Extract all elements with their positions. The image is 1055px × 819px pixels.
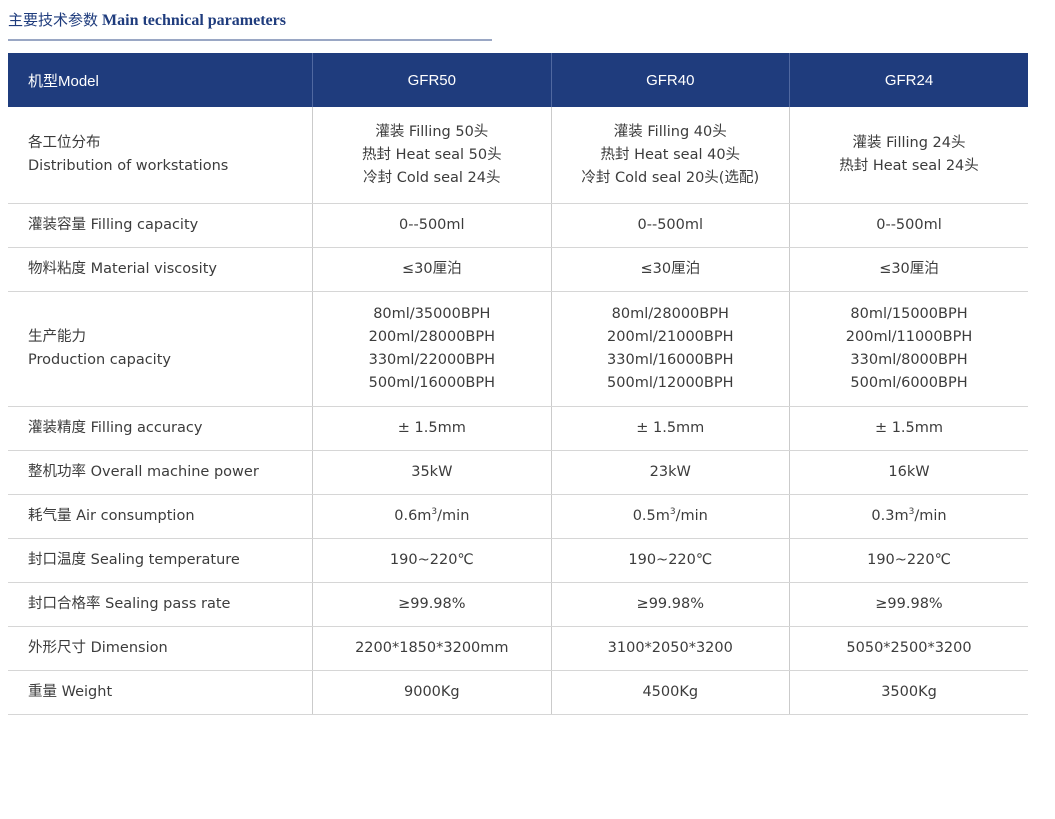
cell-dimension-gfr40: 3100*2050*3200 [551,627,789,671]
row-label-workstations: 各工位分布Distribution of workstations [8,107,313,204]
spec-table: 机型Model GFR50 GFR40 GFR24 各工位分布Distribut… [8,53,1028,715]
cell-weight-gfr50: 9000Kg [313,671,551,715]
cell-weight-gfr24: 3500Kg [790,671,1029,715]
spec-table-container: 机型Model GFR50 GFR40 GFR24 各工位分布Distribut… [8,53,1028,715]
cell-filling-accuracy-gfr40: ± 1.5mm [551,407,789,451]
cell-sealing-pass-rate-gfr24: ≥99.98% [790,583,1029,627]
cell-machine-power-gfr24: 16kW [790,451,1029,495]
row-label-dimension: 外形尺寸 Dimension [8,627,313,671]
cell-dimension-gfr50: 2200*1850*3200mm [313,627,551,671]
header-row: 机型Model GFR50 GFR40 GFR24 [8,53,1028,107]
cell-air-consumption-gfr40: 0.5m3/min [551,495,789,539]
cell-sealing-pass-rate-gfr40: ≥99.98% [551,583,789,627]
row-label-air-consumption: 耗气量 Air consumption [8,495,313,539]
cell-machine-power-gfr50: 35kW [313,451,551,495]
table-row: 封口温度 Sealing temperature190~220℃190~220℃… [8,539,1028,583]
column-header-gfr50: GFR50 [313,53,551,107]
row-label-material-viscosity: 物料粘度 Material viscosity [8,248,313,292]
table-row: 外形尺寸 Dimension2200*1850*3200mm3100*2050*… [8,627,1028,671]
row-label-weight: 重量 Weight [8,671,313,715]
cell-production-gfr40: 80ml/28000BPH200ml/21000BPH330ml/16000BP… [551,292,789,407]
table-row: 重量 Weight9000Kg4500Kg3500Kg [8,671,1028,715]
cell-production-gfr50: 80ml/35000BPH200ml/28000BPH330ml/22000BP… [313,292,551,407]
cell-filling-accuracy-gfr50: ± 1.5mm [313,407,551,451]
cell-material-viscosity-gfr24: ≤30厘泊 [790,248,1029,292]
table-row: 各工位分布Distribution of workstations灌装 Fill… [8,107,1028,204]
cell-filling-capacity-gfr24: 0--500ml [790,204,1029,248]
page-title: 主要技术参数Main technical parameters [8,10,1055,31]
table-row: 灌装容量 Filling capacity0--500ml0--500ml0--… [8,204,1028,248]
cell-weight-gfr40: 4500Kg [551,671,789,715]
cell-material-viscosity-gfr50: ≤30厘泊 [313,248,551,292]
cell-sealing-temperature-gfr24: 190~220℃ [790,539,1029,583]
cell-sealing-pass-rate-gfr50: ≥99.98% [313,583,551,627]
row-label-filling-capacity: 灌装容量 Filling capacity [8,204,313,248]
cell-filling-capacity-gfr50: 0--500ml [313,204,551,248]
cell-workstations-gfr40: 灌装 Filling 40头热封 Heat seal 40头冷封 Cold se… [551,107,789,204]
row-label-filling-accuracy: 灌装精度 Filling accuracy [8,407,313,451]
page-header: 主要技术参数Main technical parameters [0,0,1055,31]
cell-machine-power-gfr40: 23kW [551,451,789,495]
cell-air-consumption-gfr24: 0.3m3/min [790,495,1029,539]
spec-table-body: 各工位分布Distribution of workstations灌装 Fill… [8,107,1028,715]
column-header-gfr24: GFR24 [790,53,1029,107]
cell-sealing-temperature-gfr50: 190~220℃ [313,539,551,583]
cell-material-viscosity-gfr40: ≤30厘泊 [551,248,789,292]
column-header-model: 机型Model [8,53,313,107]
title-divider [8,39,492,41]
cell-dimension-gfr24: 5050*2500*3200 [790,627,1029,671]
table-row: 封口合格率 Sealing pass rate≥99.98%≥99.98%≥99… [8,583,1028,627]
table-row: 耗气量 Air consumption0.6m3/min0.5m3/min0.3… [8,495,1028,539]
cell-workstations-gfr50: 灌装 Filling 50头热封 Heat seal 50头冷封 Cold se… [313,107,551,204]
column-header-gfr40: GFR40 [551,53,789,107]
row-label-production: 生产能力Production capacity [8,292,313,407]
table-row: 整机功率 Overall machine power35kW23kW16kW [8,451,1028,495]
page-title-en: Main technical parameters [102,12,286,29]
row-label-machine-power: 整机功率 Overall machine power [8,451,313,495]
cell-filling-capacity-gfr40: 0--500ml [551,204,789,248]
spec-table-header: 机型Model GFR50 GFR40 GFR24 [8,53,1028,107]
cell-workstations-gfr24: 灌装 Filling 24头热封 Heat seal 24头 [790,107,1029,204]
page-title-cn: 主要技术参数 [8,11,98,29]
table-row: 生产能力Production capacity80ml/35000BPH200m… [8,292,1028,407]
cell-production-gfr24: 80ml/15000BPH200ml/11000BPH330ml/8000BPH… [790,292,1029,407]
cell-sealing-temperature-gfr40: 190~220℃ [551,539,789,583]
table-row: 灌装精度 Filling accuracy± 1.5mm± 1.5mm± 1.5… [8,407,1028,451]
row-label-sealing-temperature: 封口温度 Sealing temperature [8,539,313,583]
table-row: 物料粘度 Material viscosity≤30厘泊≤30厘泊≤30厘泊 [8,248,1028,292]
cell-filling-accuracy-gfr24: ± 1.5mm [790,407,1029,451]
cell-air-consumption-gfr50: 0.6m3/min [313,495,551,539]
row-label-sealing-pass-rate: 封口合格率 Sealing pass rate [8,583,313,627]
